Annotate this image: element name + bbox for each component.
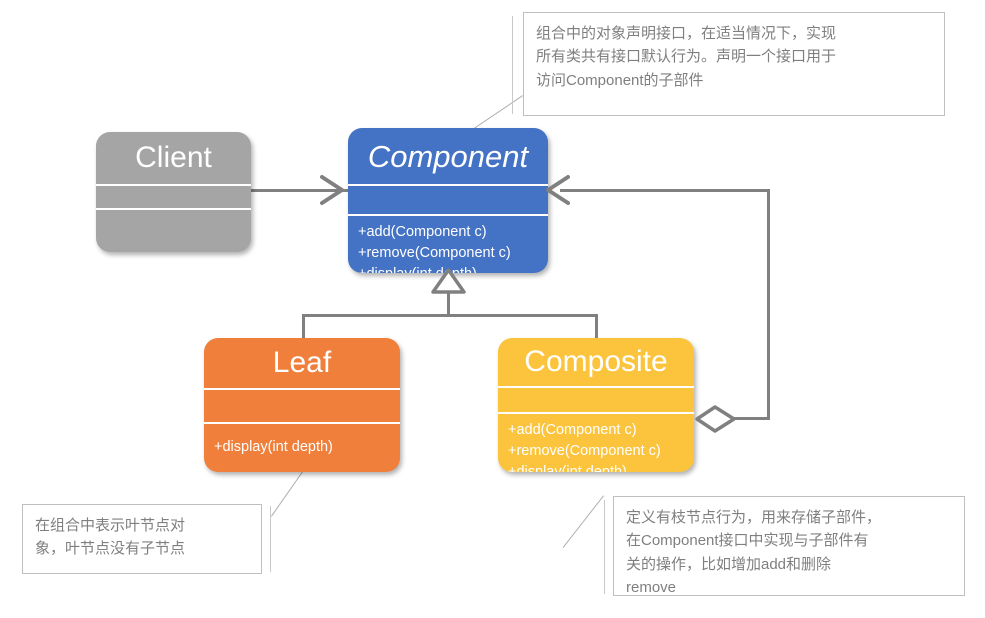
note-line: 所有类共有接口默认行为。声明一个接口用于 xyxy=(536,45,932,68)
note-line: 组合中的对象声明接口，在适当情况下，实现 xyxy=(536,22,932,45)
attributes-compartment-leaf xyxy=(204,388,400,424)
uml-class-composite[interactable]: Composite +add(Component c) +remove(Comp… xyxy=(498,338,694,472)
class-name-component: Component xyxy=(348,128,548,184)
uml-class-client[interactable]: Client xyxy=(96,132,251,252)
hollow-diamond-icon-aggregation xyxy=(694,404,742,434)
note-line: 关的操作，比如增加add和删除 xyxy=(626,553,952,576)
attributes-compartment-composite xyxy=(498,386,694,414)
open-arrow-icon-client-component xyxy=(320,175,354,205)
methods-compartment-client xyxy=(96,210,251,252)
note-line: remove xyxy=(626,576,952,599)
note-line: 象，叶节点没有子节点 xyxy=(35,537,249,560)
note-line: 定义有枝节点行为，用来存储子部件， xyxy=(626,506,952,529)
note-line: 在组合中表示叶节点对 xyxy=(35,514,249,537)
uml-class-component[interactable]: Component +add(Component c) +remove(Comp… xyxy=(348,128,548,273)
open-arrow-icon-aggregation-component xyxy=(544,175,578,205)
attributes-compartment-component xyxy=(348,184,548,216)
note-tick-component xyxy=(512,16,513,114)
method-item: +add(Component c) xyxy=(508,420,684,441)
note-leaf: 在组合中表示叶节点对 象，叶节点没有子节点 xyxy=(22,504,262,574)
methods-compartment-component: +add(Component c) +remove(Component c) +… xyxy=(348,216,548,273)
method-item: +add(Component c) xyxy=(358,222,538,243)
hollow-triangle-icon-generalization xyxy=(430,268,470,296)
connector-generalization-fork xyxy=(302,314,598,317)
uml-diagram-canvas: Client Component +add(Component c) +remo… xyxy=(0,0,985,618)
class-name-composite: Composite xyxy=(498,338,694,386)
uml-class-leaf[interactable]: Leaf +display(int depth) xyxy=(204,338,400,472)
note-tick-leaf xyxy=(270,506,271,572)
class-name-leaf: Leaf xyxy=(204,338,400,388)
methods-compartment-composite: +add(Component c) +remove(Component c) +… xyxy=(498,414,694,472)
method-item: +remove(Component c) xyxy=(508,441,684,462)
method-item: +display(int depth) xyxy=(508,462,684,472)
note-tick-composite xyxy=(604,500,605,594)
attributes-compartment-client xyxy=(96,184,251,210)
note-component: 组合中的对象声明接口，在适当情况下，实现 所有类共有接口默认行为。声明一个接口用… xyxy=(523,12,945,116)
class-name-client: Client xyxy=(96,132,251,184)
methods-compartment-leaf: +display(int depth) xyxy=(204,424,400,472)
note-line: 在Component接口中实现与子部件有 xyxy=(626,529,952,552)
method-item: +display(int depth) xyxy=(214,437,333,458)
note-composite: 定义有枝节点行为，用来存储子部件， 在Component接口中实现与子部件有 关… xyxy=(613,496,965,596)
connector-aggregation-vertical xyxy=(767,189,770,420)
leader-line-note-composite xyxy=(563,495,604,548)
note-line: 访问Component的子部件 xyxy=(536,69,932,92)
connector-aggregation-upper-horizontal xyxy=(560,189,770,192)
method-item: +remove(Component c) xyxy=(358,243,538,264)
